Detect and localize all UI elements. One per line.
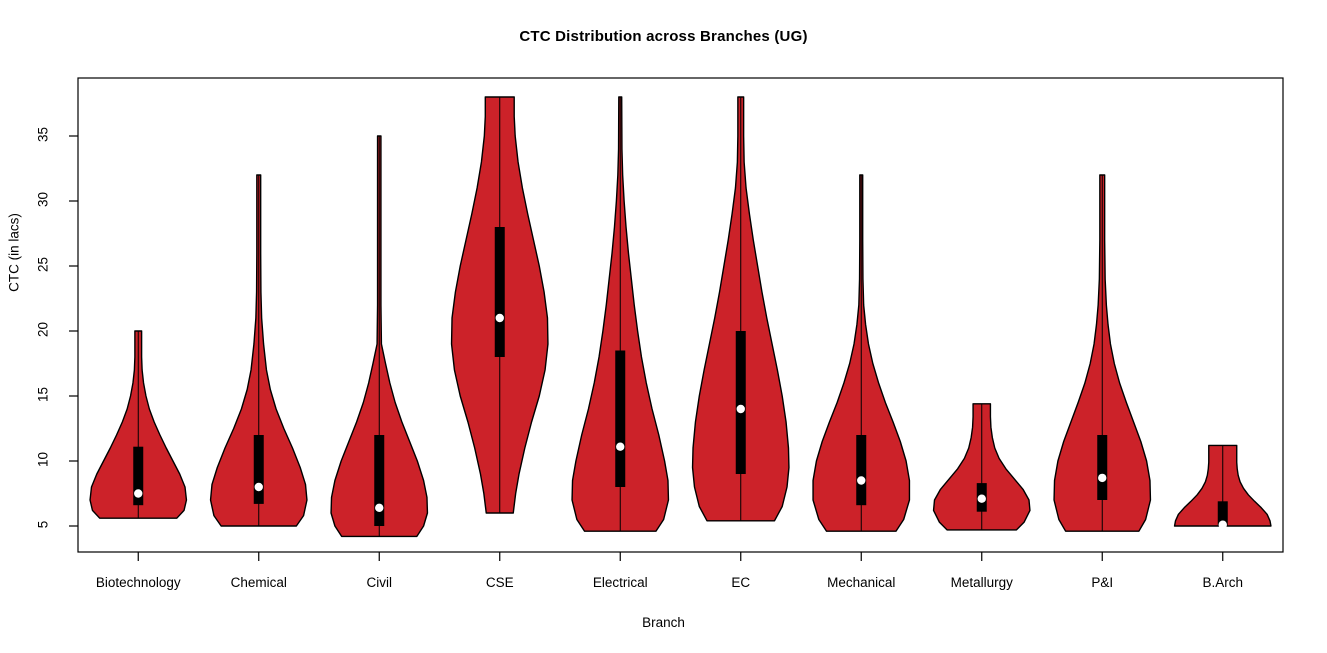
y-axis-tick-label: 25 bbox=[36, 245, 51, 285]
violin-b-arch bbox=[1175, 445, 1271, 529]
x-axis-tick-label-mechanical: Mechanical bbox=[801, 575, 922, 590]
violin-iqr-box bbox=[374, 435, 384, 526]
x-axis-tick-label-civil: Civil bbox=[319, 575, 440, 590]
violin-p-i bbox=[1054, 175, 1150, 531]
x-axis-tick-label-electrical: Electrical bbox=[560, 575, 681, 590]
x-axis-tick-label-biotechnology: Biotechnology bbox=[78, 575, 199, 590]
violin-mechanical bbox=[813, 175, 909, 531]
x-axis-tick-label-p-i: P&I bbox=[1042, 575, 1163, 590]
y-axis-tick-label: 20 bbox=[36, 310, 51, 350]
violin-median-point bbox=[375, 504, 383, 512]
violin-ec bbox=[693, 97, 789, 521]
y-axis-tick-label: 10 bbox=[36, 440, 51, 480]
y-axis-tick-label: 30 bbox=[36, 180, 51, 220]
violin-iqr-box bbox=[856, 435, 866, 505]
plot-canvas bbox=[0, 0, 1327, 653]
violin-chart-figure: CTC Distribution across Branches (UG) CT… bbox=[0, 0, 1327, 653]
y-axis-tick-label: 15 bbox=[36, 375, 51, 415]
violin-iqr-box bbox=[1097, 435, 1107, 500]
y-axis-tick-label: 5 bbox=[36, 505, 51, 545]
violin-median-point bbox=[616, 443, 624, 451]
violin-median-point bbox=[255, 483, 263, 491]
violin-cse bbox=[452, 97, 548, 513]
x-axis-tick-label-cse: CSE bbox=[440, 575, 561, 590]
x-axis-tick-label-metallurgy: Metallurgy bbox=[922, 575, 1043, 590]
violin-chemical bbox=[211, 175, 307, 526]
x-axis-tick-label-ec: EC bbox=[681, 575, 802, 590]
violin-median-point bbox=[978, 495, 986, 503]
violin-biotechnology bbox=[90, 331, 186, 518]
violin-median-point bbox=[857, 476, 865, 484]
violin-median-point bbox=[1219, 521, 1227, 529]
y-axis-tick-label: 35 bbox=[36, 115, 51, 155]
violin-metallurgy bbox=[934, 404, 1030, 530]
violin-median-point bbox=[737, 405, 745, 413]
x-axis-tick-label-chemical: Chemical bbox=[199, 575, 320, 590]
violin-iqr-box bbox=[736, 331, 746, 474]
violin-median-point bbox=[496, 314, 504, 322]
violin-iqr-box bbox=[615, 351, 625, 488]
violin-electrical bbox=[572, 97, 668, 531]
violin-civil bbox=[331, 136, 427, 536]
violin-median-point bbox=[134, 489, 142, 497]
x-axis-tick-label-b-arch: B.Arch bbox=[1163, 575, 1284, 590]
violin-iqr-box bbox=[254, 435, 264, 504]
violin-iqr-box bbox=[495, 227, 505, 357]
violin-median-point bbox=[1098, 474, 1106, 482]
